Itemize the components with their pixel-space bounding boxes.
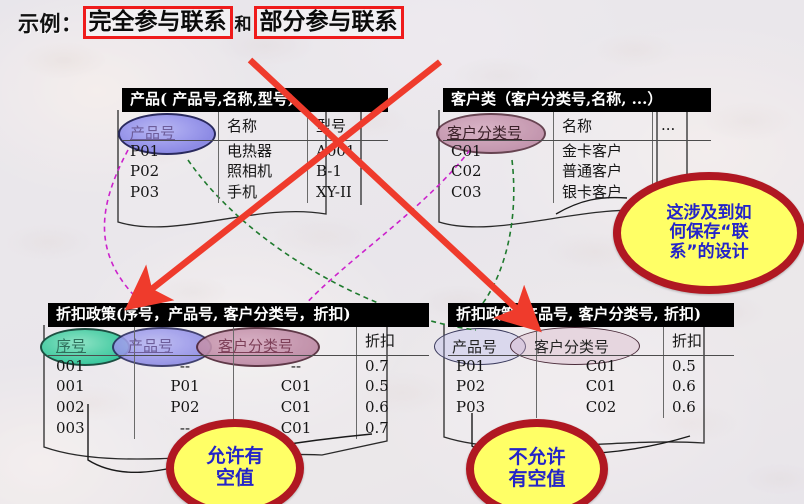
arrow-to-left-discount-table bbox=[148, 62, 440, 292]
callout-nulls-not-allowed-text: 不允许 有空值 bbox=[508, 447, 565, 490]
callout-line: 这涉及到如 bbox=[667, 204, 752, 223]
callout-line: 系”的设计 bbox=[667, 243, 752, 262]
callout-line: 何保存“联 bbox=[667, 223, 752, 242]
slide-canvas: 示例： 完全参与联系 和 部分参与联系 产品( 产品号,名称,型号) 产品号 bbox=[0, 0, 804, 504]
callout-design-note-text: 这涉及到如 何保存“联 系”的设计 bbox=[667, 204, 752, 262]
callout-line: 不允许 bbox=[508, 447, 565, 469]
callout-design-note: 这涉及到如 何保存“联 系”的设计 bbox=[613, 172, 804, 294]
callout-line: 空值 bbox=[206, 468, 263, 490]
arrow-to-right-discount-table bbox=[250, 60, 520, 312]
callout-line: 允许有 bbox=[206, 446, 263, 468]
callout-nulls-allowed-text: 允许有 空值 bbox=[206, 446, 263, 489]
callout-line: 有空值 bbox=[508, 469, 565, 491]
